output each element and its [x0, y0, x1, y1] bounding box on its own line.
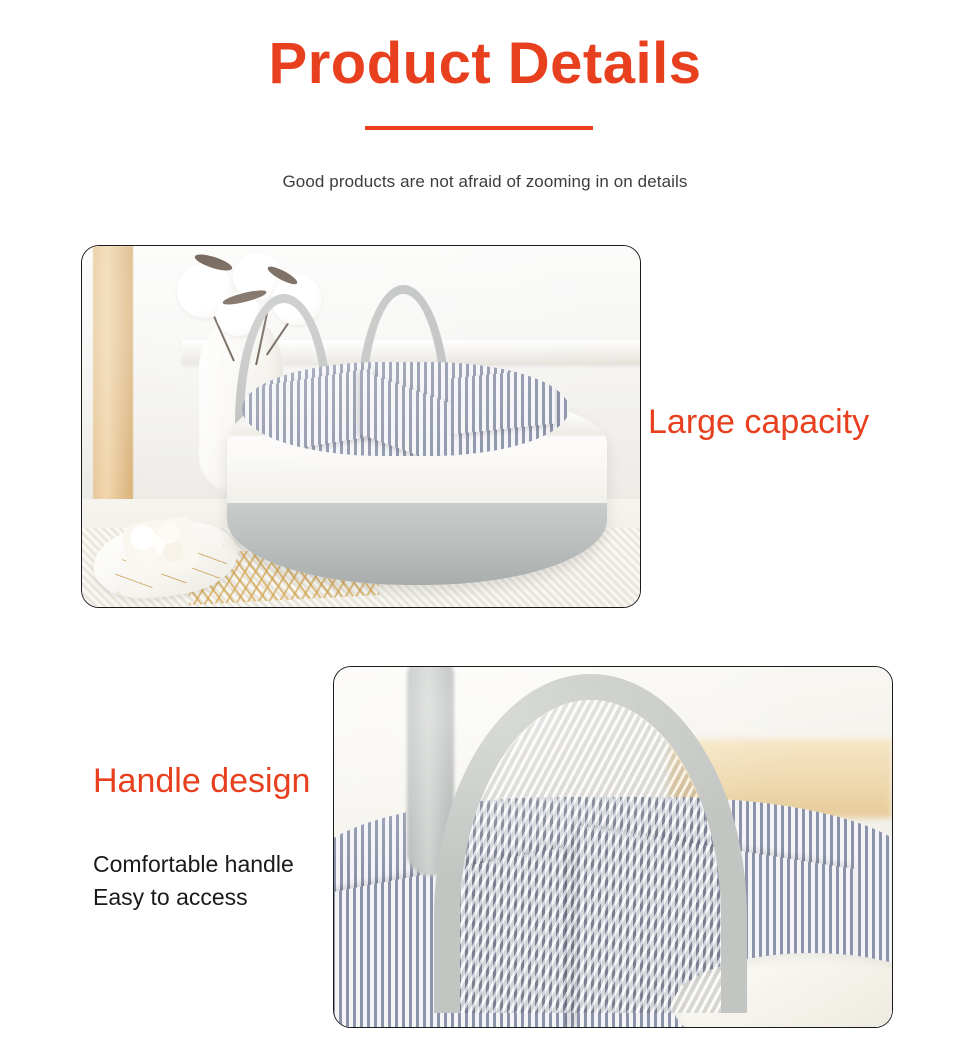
product-photo-large-capacity	[81, 245, 641, 608]
rope-storage-basket	[227, 362, 606, 586]
callout-handle-design: Handle design	[93, 763, 310, 800]
page-title: Product Details	[0, 34, 970, 95]
bubble-candle	[120, 516, 199, 580]
photo-scene-handle-closeup	[334, 667, 892, 1027]
handle-description-line-1: Comfortable handle	[93, 848, 294, 881]
product-photo-handle-design	[333, 666, 893, 1028]
title-underline-rule	[365, 126, 593, 130]
photo-scene-basket-on-table	[82, 246, 640, 607]
basket-gray-rope-band	[227, 503, 606, 586]
callout-large-capacity: Large capacity	[648, 404, 869, 441]
rope-braid-texture	[460, 700, 720, 1012]
handle-description-line-2: Easy to access	[93, 881, 294, 914]
callout-handle-description: Comfortable handle Easy to access	[93, 848, 294, 913]
basket-divider-right	[451, 367, 555, 434]
basket-opening	[242, 362, 568, 456]
page-subtitle: Good products are not afraid of zooming …	[0, 172, 970, 192]
wooden-frame-edge	[93, 246, 133, 542]
